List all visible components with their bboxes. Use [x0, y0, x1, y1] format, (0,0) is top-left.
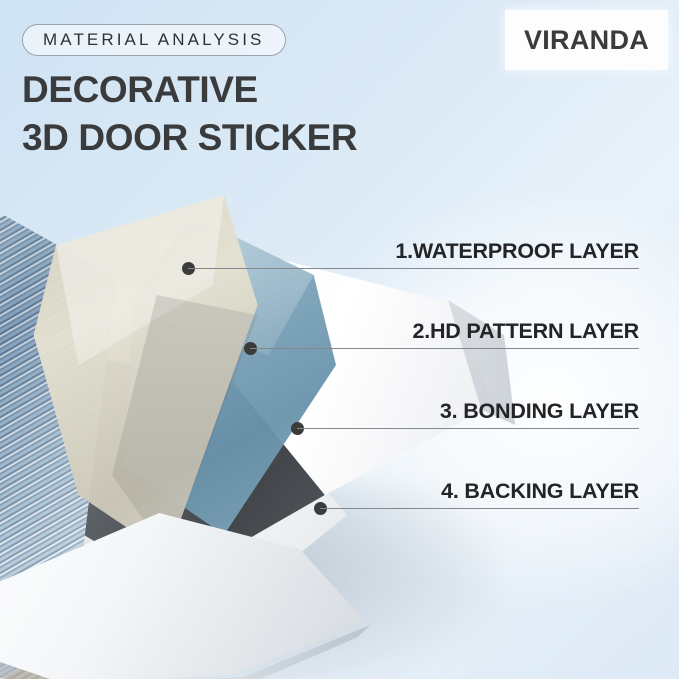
eyebrow-label: MATERIAL ANALYSIS — [43, 30, 265, 50]
callout-underline — [188, 268, 639, 269]
callout-underline — [250, 348, 639, 349]
poster-canvas: MATERIAL ANALYSIS DECORATIVE 3D DOOR STI… — [0, 0, 679, 679]
brand-name: VIRANDA — [524, 25, 649, 56]
page-title-line2: 3D DOOR STICKER — [22, 114, 357, 162]
eyebrow-pill: MATERIAL ANALYSIS — [22, 24, 286, 56]
callout-label: 1.WATERPROOF LAYER — [395, 239, 639, 264]
callout-underline — [297, 428, 639, 429]
page-title-line1: DECORATIVE — [22, 69, 258, 110]
callout-label: 3. BONDING LAYER — [440, 399, 639, 424]
page-title: DECORATIVE 3D DOOR STICKER — [22, 66, 357, 162]
callout-underline — [320, 508, 639, 509]
brand-badge: VIRANDA — [505, 10, 668, 70]
callout-label: 2.HD PATTERN LAYER — [412, 319, 639, 344]
callout-label: 4. BACKING LAYER — [441, 479, 639, 504]
